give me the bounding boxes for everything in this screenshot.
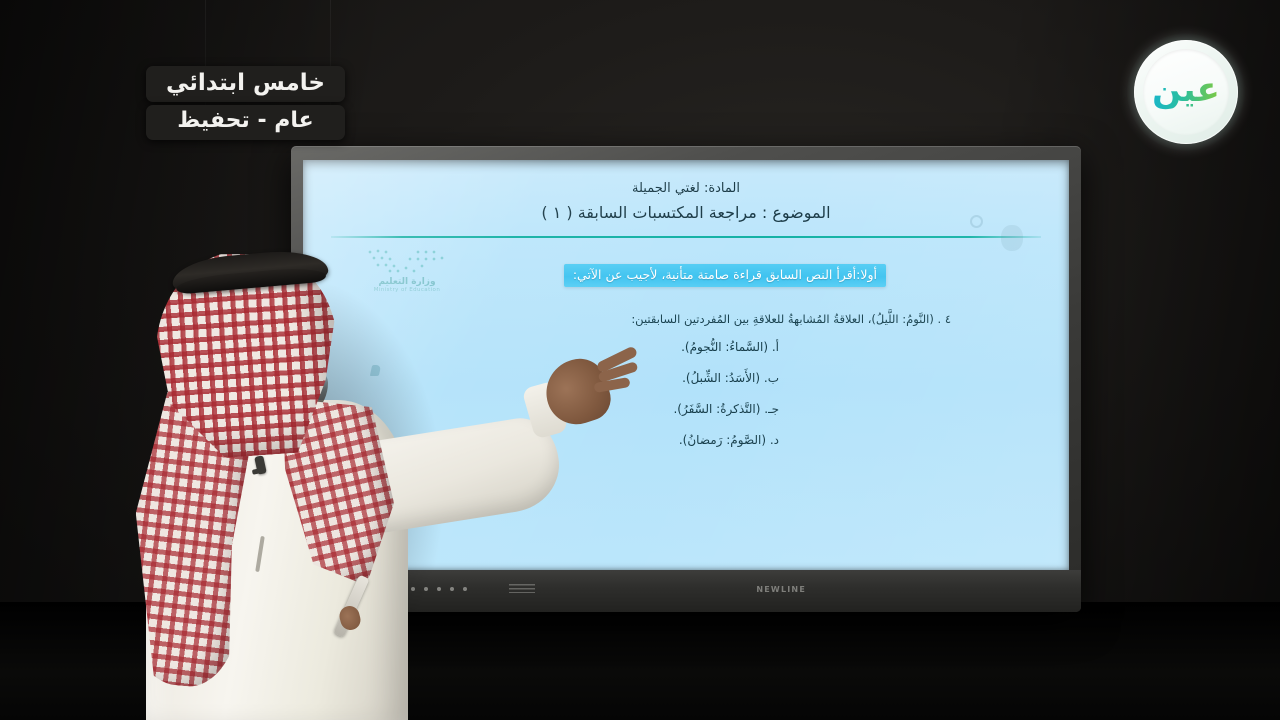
question-text: ٤ . (النَّومُ: اللَّيلُ)، العلاقةُ المُش…	[631, 312, 951, 326]
board-button-volume-down[interactable]	[424, 587, 428, 591]
moe-name-arabic: وزارة التعليم	[349, 277, 465, 287]
moe-name-english: Ministry of Education	[349, 287, 465, 293]
slide-control-blob-icon[interactable]	[1001, 225, 1023, 251]
presenter-ear	[206, 342, 222, 364]
board-speaker-grille	[509, 584, 535, 593]
lower-third: خامس ابتدائي عام - تحفيظ	[146, 66, 345, 140]
board-button-menu[interactable]	[450, 587, 454, 591]
header-divider	[331, 236, 1041, 238]
ain-watermark-icon	[359, 365, 391, 391]
track-badge: عام - تحفيظ	[146, 105, 345, 139]
ministry-of-education-logo: وزارة التعليم Ministry of Education	[349, 248, 465, 293]
ain-channel-logo-icon: عين	[1134, 40, 1238, 144]
board-control-bar: NEWLINE	[291, 570, 1081, 612]
logo-label: عين	[1152, 73, 1220, 111]
ain-watermark-mark	[369, 365, 380, 376]
moe-palm-dots-icon	[364, 248, 450, 274]
slide-control-circle-icon[interactable]	[970, 215, 983, 228]
presenter-collar	[208, 392, 283, 435]
smart-board[interactable]: المادة: لغتي الجميلة الموضوع : مراجعة ال…	[291, 146, 1081, 612]
option-b[interactable]: ب. (الأَسَدُ: الشِّبلُ).	[673, 371, 779, 385]
topic-line: الموضوع : مراجعة المكتسبات السابقة ( ١ )	[303, 201, 1069, 224]
presenter-lapel-microphone	[254, 455, 267, 474]
board-button-row[interactable]	[411, 587, 467, 591]
board-bezel: المادة: لغتي الجميلة الموضوع : مراجعة ال…	[291, 146, 1081, 612]
instruction-banner: أولا:أقرأ النص السابق قراءة صامتة متأنية…	[564, 264, 886, 287]
options-list: أ. (السَّماءُ: النُّجومُ). ب. (الأَسَدُ:…	[673, 340, 779, 447]
board-button-power[interactable]	[463, 587, 467, 591]
presenter-neck	[238, 384, 290, 424]
board-screen[interactable]: المادة: لغتي الجميلة الموضوع : مراجعة ال…	[303, 160, 1069, 570]
slide-content: المادة: لغتي الجميلة الموضوع : مراجعة ال…	[303, 160, 1069, 570]
subject-line: المادة: لغتي الجميلة	[303, 180, 1069, 199]
board-button-input[interactable]	[437, 587, 441, 591]
presenter-pocket-pen-icon	[255, 536, 265, 572]
option-a[interactable]: أ. (السَّماءُ: النُّجومُ).	[673, 340, 779, 354]
slide-header: المادة: لغتي الجميلة الموضوع : مراجعة ال…	[303, 180, 1069, 224]
board-brand-label: NEWLINE	[756, 585, 806, 594]
logo-inner-disc: عين	[1143, 49, 1229, 135]
ir-sensor-icon	[353, 586, 356, 593]
grade-badge: خامس ابتدائي	[146, 66, 345, 102]
broadcast-frame: خامس ابتدائي عام - تحفيظ عين المادة: لغت…	[0, 0, 1280, 720]
option-c[interactable]: جـ. (التَّذكرةُ: السَّفَرُ).	[673, 402, 779, 416]
studio-floor	[0, 602, 1280, 720]
board-button-volume-up[interactable]	[411, 587, 415, 591]
option-d[interactable]: د. (الصَّومُ: رَمضانُ).	[673, 433, 779, 447]
